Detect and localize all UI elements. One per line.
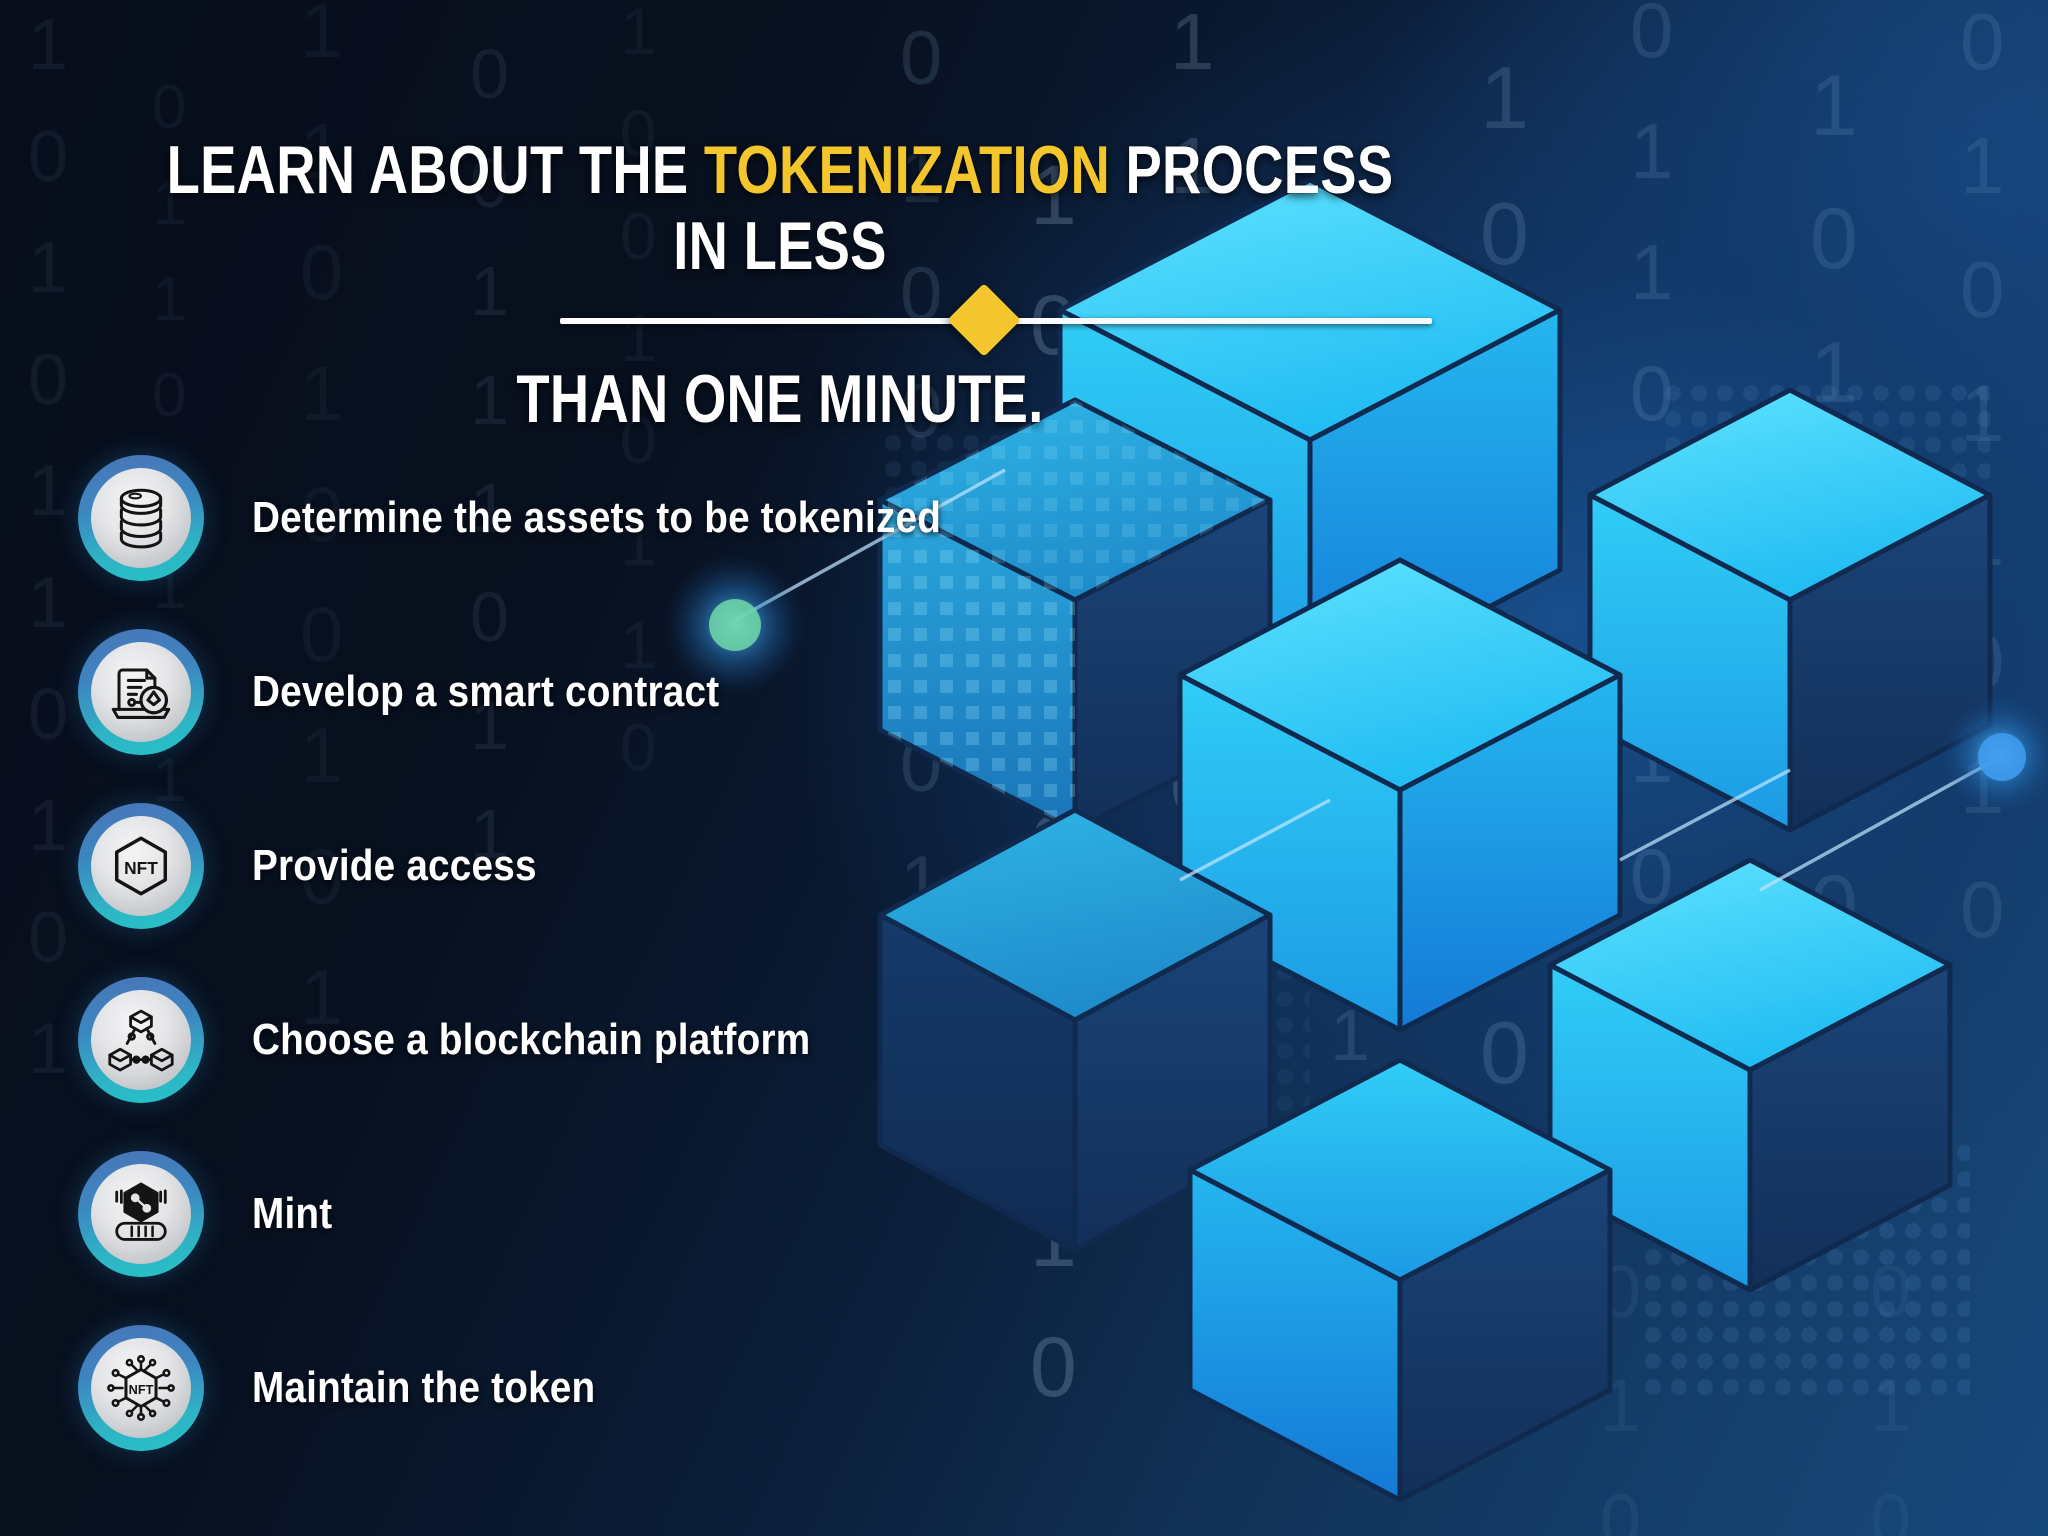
svg-text:NFT: NFT (129, 1382, 154, 1397)
tokenization-steps-list: Determine the assets to be tokenized Dev… (78, 452, 1098, 1454)
dot-grid-pattern (1090, 960, 1310, 1160)
binary-column: 1 0 1 0 1 1 0 1 0 1 (28, 0, 69, 1106)
mint-chip-icon (78, 1151, 204, 1277)
coin-stack-icon (78, 455, 204, 581)
list-item-label: Maintain the token (252, 1363, 595, 1413)
title-line-1-before: LEARN ABOUT THE (167, 132, 704, 208)
blockchain-network-icon (78, 977, 204, 1103)
title-line-2: THAN ONE MINUTE. (516, 361, 1043, 437)
list-item-label: Choose a blockchain platform (252, 1015, 810, 1065)
smart-contract-icon (78, 629, 204, 755)
binary-column: 0 1 1 0 0 1 1 0 1 (1630, 0, 1675, 1058)
svg-text:NFT: NFT (124, 858, 158, 878)
binary-column: 1 0 0 1 1 0 1 0 (1480, 30, 1531, 1121)
list-item[interactable]: NFT Provide access (78, 800, 1098, 932)
nft-hexagon-icon: NFT (78, 803, 204, 929)
list-item-label: Determine the assets to be tokenized (252, 493, 941, 543)
list-item-label: Provide access (252, 841, 537, 891)
binary-column: 0 1 0 1 1 0 1 0 (1960, 0, 2006, 972)
list-item[interactable]: Mint (78, 1148, 1098, 1280)
title-accent-word: TOKENIZATION (704, 132, 1110, 208)
nft-network-icon: NFT (78, 1325, 204, 1451)
list-item-label: Develop a smart contract (252, 667, 719, 717)
list-item-label: Mint (252, 1189, 332, 1239)
binary-column: 1 0 1 1 0 1 0 1 (1810, 40, 1860, 1106)
binary-column: 0 0 1 0 (1600, 1120, 1643, 1536)
list-item[interactable]: NFT Maintain the token (78, 1322, 1098, 1454)
infographic-slide: 1 0 1 0 1 1 0 1 0 1 0 1 1 0 0 1 0 1 1 1 … (0, 0, 2048, 1536)
list-item[interactable]: Develop a smart contract (78, 626, 1098, 758)
list-item[interactable]: Determine the assets to be tokenized (78, 452, 1098, 584)
dot-grid-pattern (1660, 380, 1990, 680)
page-title: LEARN ABOUT THE TOKENIZATION PROCESS IN … (156, 56, 1404, 437)
list-item[interactable]: Choose a blockchain platform (78, 974, 1098, 1106)
dot-grid-pattern (1640, 1140, 1970, 1400)
binary-column: 1 0 1 0 (1870, 1120, 1913, 1536)
